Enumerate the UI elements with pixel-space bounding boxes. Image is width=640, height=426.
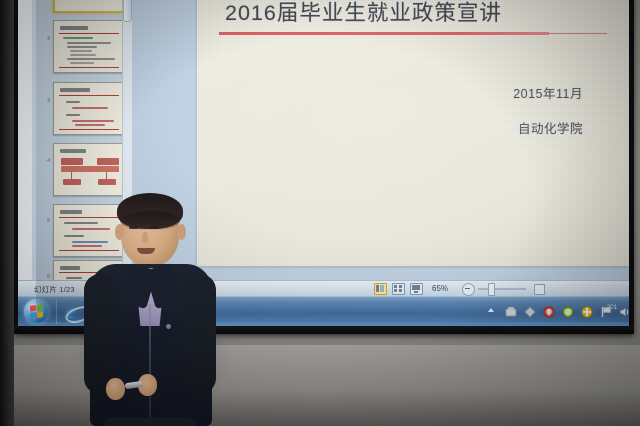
presenter-nose bbox=[142, 232, 148, 243]
thumbnail-scrollbar-handle[interactable] bbox=[123, 0, 132, 22]
current-slide[interactable]: 2016届毕业生就业政策宣讲 2015年11月 自动化学院 bbox=[197, 0, 629, 266]
presenter-legs bbox=[104, 418, 196, 426]
lecture-room-photo: 2 3 4 5 6 2016届毕业生就业政策宣讲 2015年11月 自动化学院 bbox=[0, 0, 640, 426]
zoom-level-label: 65% bbox=[432, 284, 448, 293]
presenter-jacket-zipper bbox=[149, 304, 151, 422]
fit-slide-to-window-button[interactable] bbox=[534, 284, 545, 295]
title-underline-accent bbox=[219, 32, 549, 35]
slide-thumbnail-2[interactable] bbox=[53, 20, 127, 73]
slide-thumbnail-1[interactable] bbox=[53, 0, 129, 13]
removable-media-icon[interactable] bbox=[505, 306, 517, 318]
title-underline-thin bbox=[549, 33, 607, 34]
thumbnail-number-5: 5 bbox=[38, 218, 50, 224]
presenter-eye-left bbox=[129, 226, 138, 229]
start-button-icon[interactable] bbox=[24, 299, 49, 324]
zoom-slider-handle[interactable] bbox=[488, 283, 495, 296]
presenter-arm-right bbox=[182, 274, 216, 394]
slide-thumbnail-4[interactable] bbox=[53, 143, 127, 196]
slide-sorter-view-button[interactable] bbox=[392, 283, 405, 295]
slide-subtitle-date: 2015年11月 bbox=[513, 83, 583, 102]
green-shield-icon[interactable] bbox=[562, 306, 574, 318]
reading-view-button[interactable] bbox=[410, 283, 423, 295]
presenter-brow-right bbox=[149, 221, 160, 223]
taskbar-clock[interactable]: 201 bbox=[599, 303, 625, 312]
windows-logo-icon bbox=[30, 304, 43, 319]
taskbar-divider bbox=[56, 300, 57, 324]
red-shield-icon[interactable] bbox=[543, 306, 555, 318]
show-hidden-icons-arrow-icon[interactable] bbox=[487, 307, 495, 315]
presenter-hair bbox=[117, 193, 183, 229]
slide-counter: 幻灯片 1/23 bbox=[34, 284, 75, 295]
zoom-out-button[interactable] bbox=[462, 283, 475, 296]
presenter-brow-left bbox=[128, 221, 139, 223]
presenter-jacket-logo bbox=[166, 324, 171, 329]
slide-subtitle-org: 自动化学院 bbox=[518, 118, 583, 137]
yellow-update-icon[interactable] bbox=[581, 306, 593, 318]
slide-thumbnail-3[interactable] bbox=[53, 82, 127, 135]
normal-view-button[interactable] bbox=[374, 283, 387, 295]
slide-title: 2016届毕业生就业政策宣讲 bbox=[225, 0, 605, 27]
presenter bbox=[84, 196, 218, 426]
zoom-slider-track[interactable] bbox=[478, 288, 526, 290]
presenter-hand-left bbox=[106, 378, 125, 400]
presenter-ear-left bbox=[115, 224, 124, 240]
left-wall-edge bbox=[0, 0, 14, 426]
presenter-arm-left bbox=[84, 274, 118, 394]
view-buttons-group[interactable] bbox=[374, 283, 423, 295]
presenter-eye-right bbox=[150, 226, 159, 229]
thumbnail-number-2: 2 bbox=[38, 36, 50, 42]
thumbnail-number-4: 4 bbox=[38, 158, 50, 164]
presenter-ear-right bbox=[177, 224, 186, 240]
diamond-icon[interactable] bbox=[524, 306, 536, 318]
thumbnail-number-3: 3 bbox=[38, 98, 50, 104]
